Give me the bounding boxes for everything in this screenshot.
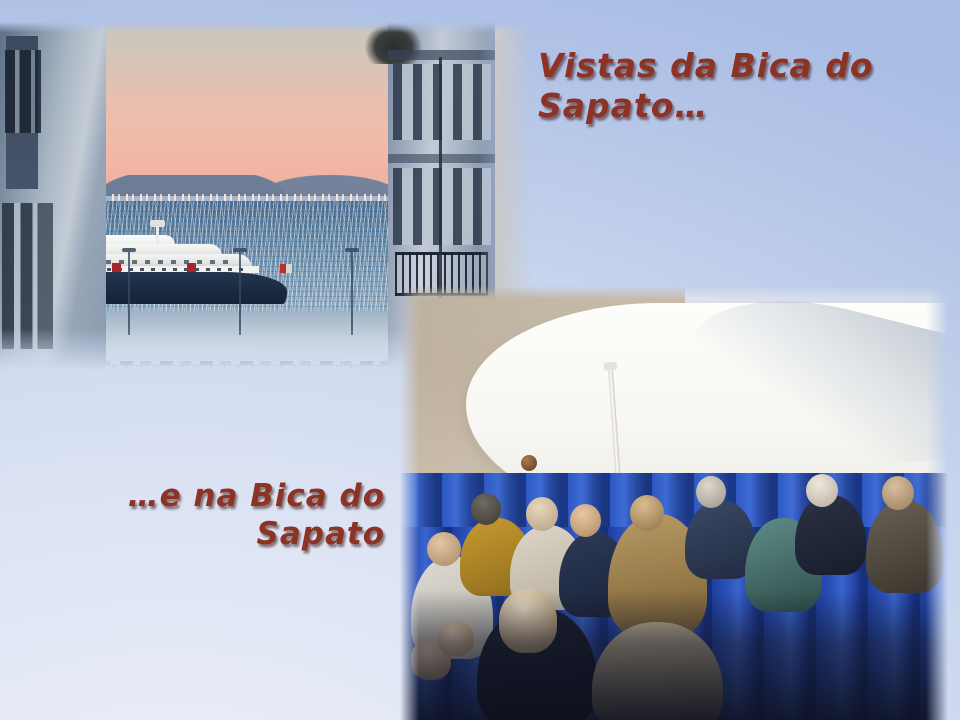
person-figure xyxy=(866,500,943,594)
slide-caption: …e na Bica do Sapato xyxy=(60,478,385,554)
person-head xyxy=(570,504,601,537)
street-lamp-2 xyxy=(239,252,241,336)
person-head xyxy=(471,493,501,525)
building-left-windows xyxy=(5,50,41,134)
yacht-mast xyxy=(156,225,159,246)
street-lamp-3 xyxy=(351,252,353,336)
person-figure xyxy=(795,495,866,575)
person-head xyxy=(806,474,838,507)
street-lamp-1 xyxy=(128,252,130,336)
yacht-red-marking-1 xyxy=(112,263,121,272)
presentation-slide: Vistas da Bica do Sapato… …e na Bica do … xyxy=(0,0,960,720)
person-head xyxy=(696,476,726,508)
yacht-flag xyxy=(280,264,292,273)
yacht-red-marking-2 xyxy=(187,263,196,272)
canopy-anchor-knob xyxy=(521,455,537,471)
slide-title: Vistas da Bica do Sapato… xyxy=(538,46,938,127)
photo-audience xyxy=(400,286,948,720)
foreground-building-left xyxy=(0,22,106,370)
audience-foreground-shadow xyxy=(400,590,948,720)
person-head xyxy=(630,495,664,531)
